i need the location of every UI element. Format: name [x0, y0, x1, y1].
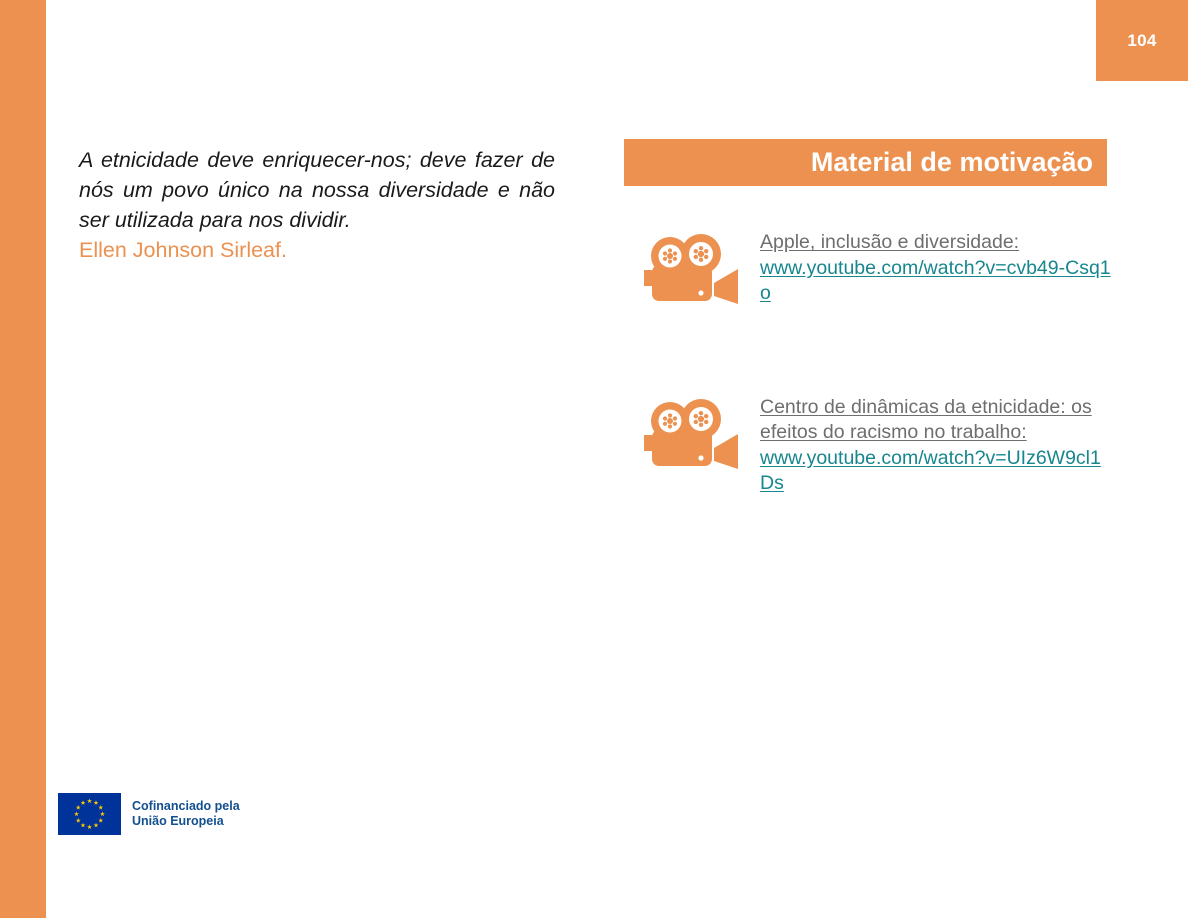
video-camera-icon: [624, 230, 760, 306]
panel-title-bar: Material de motivação: [624, 139, 1107, 186]
panel-title: Material de motivação: [811, 149, 1093, 176]
quote-text: A etnicidade deve enriquecer-nos; deve f…: [79, 145, 555, 235]
resource-link[interactable]: www.youtube.com/watch?v=UIz6W9cl1Ds: [760, 447, 1101, 495]
page-number-label: 104: [1127, 31, 1156, 51]
quote-author: Ellen Johnson Sirleaf.: [79, 235, 555, 265]
resource-list: Apple, inclusão e diversidade: www.youtu…: [624, 230, 1114, 497]
eu-funding-caption: Cofinanciado pela União Europeia: [132, 799, 240, 829]
video-camera-icon: [624, 395, 760, 471]
list-item: Centro de dinâmicas da etnicidade: os ef…: [624, 395, 1114, 497]
resource-text: Centro de dinâmicas da etnicidade: os ef…: [760, 395, 1114, 497]
resource-label: Apple, inclusão e diversidade:: [760, 231, 1019, 253]
resource-text: Apple, inclusão e diversidade: www.youtu…: [760, 230, 1114, 307]
page-number-badge: 104: [1096, 0, 1188, 81]
quote-block: A etnicidade deve enriquecer-nos; deve f…: [79, 145, 555, 265]
resource-link[interactable]: www.youtube.com/watch?v=cvb49-Csq1o: [760, 257, 1111, 305]
left-accent-stripe: [0, 0, 46, 918]
resource-label: Centro de dinâmicas da etnicidade: os ef…: [760, 396, 1092, 444]
eu-funding-footer: Cofinanciado pela União Europeia: [58, 793, 240, 835]
list-item: Apple, inclusão e diversidade: www.youtu…: [624, 230, 1114, 307]
eu-flag-icon: [58, 793, 121, 835]
